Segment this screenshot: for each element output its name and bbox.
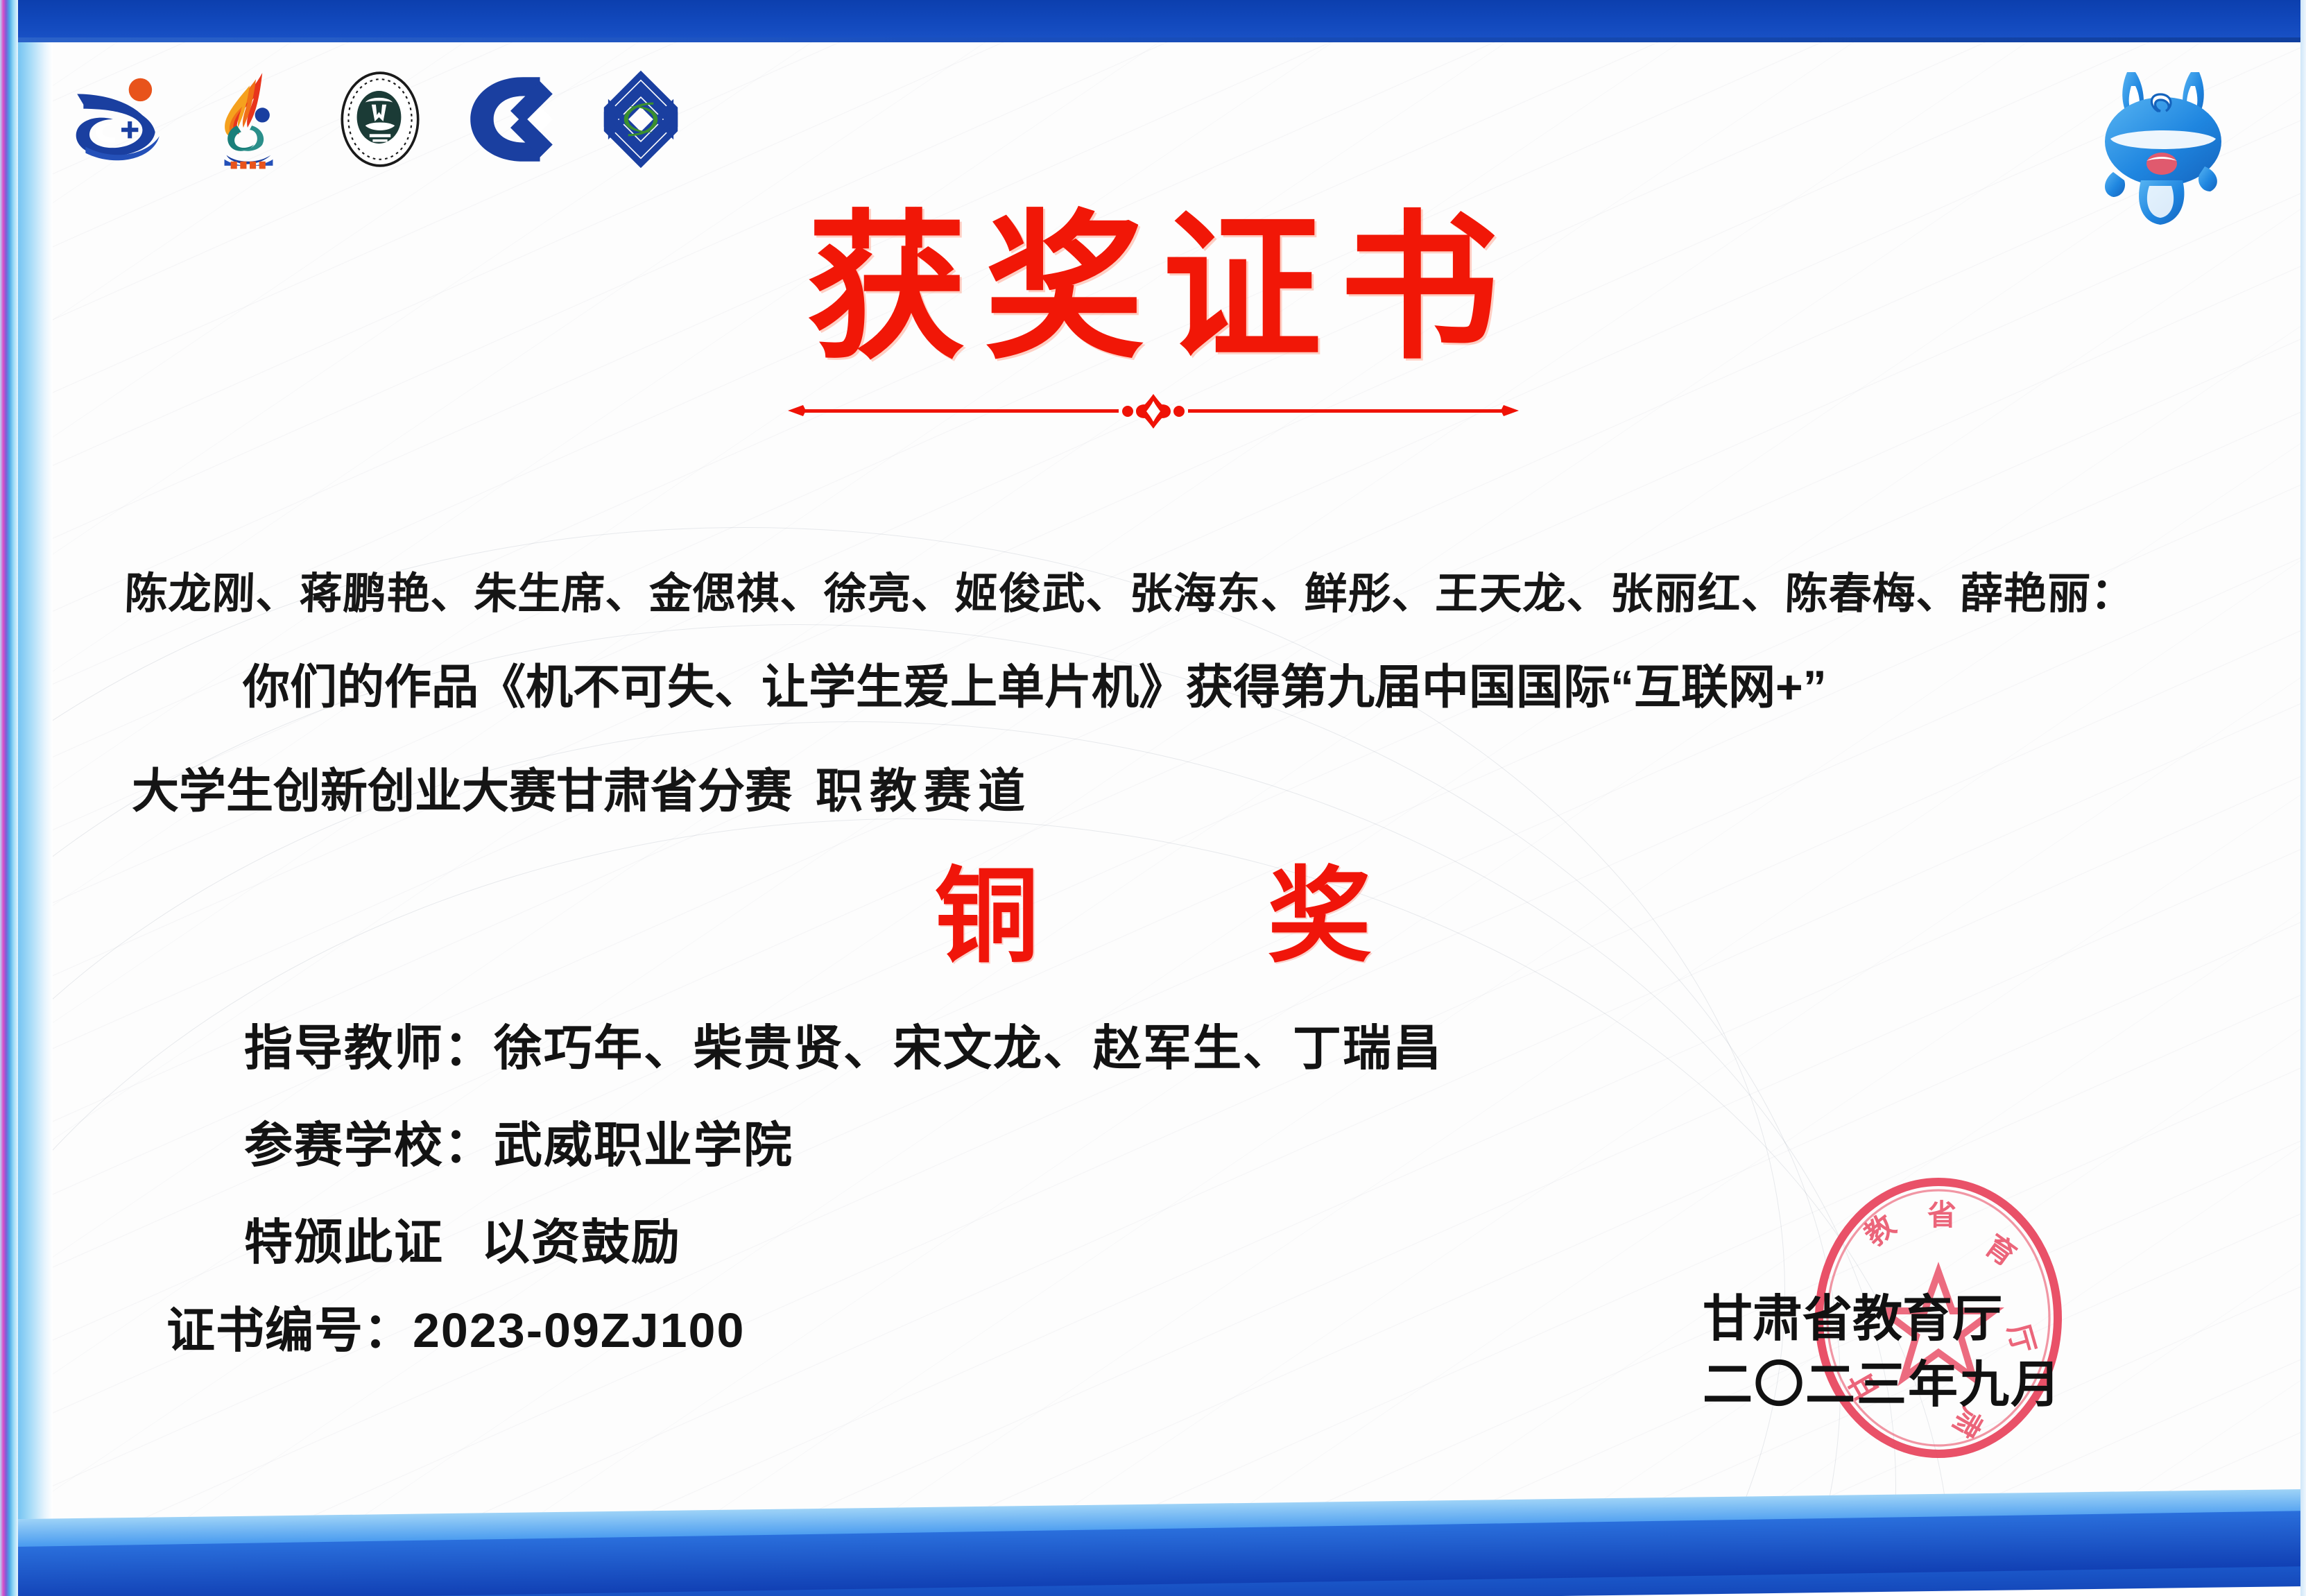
- body-line-2: 大学生创新创业大赛甘肃省分赛职教赛道: [132, 753, 1032, 821]
- certificate-number-label: 证书编号：: [166, 1303, 413, 1357]
- frame-left-band: [12, 0, 53, 1596]
- closing-row: 特颁此证以资鼓励: [244, 1203, 681, 1273]
- gansu-education-logo-icon: [67, 67, 172, 172]
- advisors-label: 指导教师：: [244, 1022, 494, 1076]
- frame-right-edge-strip: [2300, 0, 2306, 1596]
- svg-text:省: 省: [1927, 1198, 1956, 1232]
- recipients-line: 陈龙刚、蒋鹏艳、朱生席、金偲祺、徐亮、姬俊武、张海东、鲜彤、王天龙、张丽红、陈春…: [123, 558, 2135, 621]
- certificate-content: 获奖证书: [0, 0, 2306, 1596]
- construction-bank-logo-icon: [458, 67, 563, 172]
- issuer-organization: 甘肃省教育厅: [1703, 1287, 2062, 1353]
- advisors-row: 指导教师：徐巧年、柴贵贤、宋文龙、赵军生、丁瑞昌: [244, 1009, 1443, 1079]
- school-label: 参赛学校：: [244, 1119, 494, 1173]
- track-label: 职教赛道: [816, 765, 1032, 818]
- closing-text-a: 特颁此证: [244, 1217, 444, 1270]
- sponsor-logo-row: [67, 67, 694, 172]
- university-emblem-logo-icon: [327, 67, 433, 172]
- page-title: 获奖证书: [0, 208, 2306, 368]
- certificate-number-value: 2023-09ZJ100: [413, 1303, 745, 1357]
- title-divider-ornament: [775, 393, 1531, 430]
- frame-left-edge-strip: [0, 0, 18, 1596]
- frame-top-band: [0, 0, 2306, 42]
- certificate-page: 获奖证书: [0, 0, 2306, 1596]
- closing-text-b: 以资鼓励: [481, 1217, 681, 1270]
- frame-top-inner-band: [0, 37, 2306, 42]
- advisors-value: 徐巧年、柴贵贤、宋文龙、赵军生、丁瑞昌: [494, 1022, 1443, 1076]
- issuer-block: 甘肃省教育厅 二〇二三年九月: [1703, 1287, 2062, 1418]
- competition-mascot-icon: [2080, 50, 2246, 230]
- svg-text:育: 育: [1979, 1228, 2022, 1272]
- issuer-date: 二〇二三年九月: [1703, 1353, 2062, 1418]
- certificate-number-row: 证书编号：2023-09ZJ100: [166, 1292, 745, 1362]
- flame-torch-logo-icon: [197, 67, 302, 172]
- body-line-2-text: 大学生创新创业大赛甘肃省分赛: [132, 765, 792, 818]
- china-mobile-logo-icon: [588, 67, 694, 172]
- title-block: 获奖证书: [0, 208, 2306, 430]
- award-level: 铜 奖: [0, 832, 2306, 983]
- school-row: 参赛学校：武威职业学院: [244, 1106, 793, 1176]
- school-value: 武威职业学院: [494, 1119, 793, 1173]
- body-line-1: 你们的作品《机不可失、让学生爱上单片机》获得第九届中国国际“互联网+”: [243, 649, 1827, 717]
